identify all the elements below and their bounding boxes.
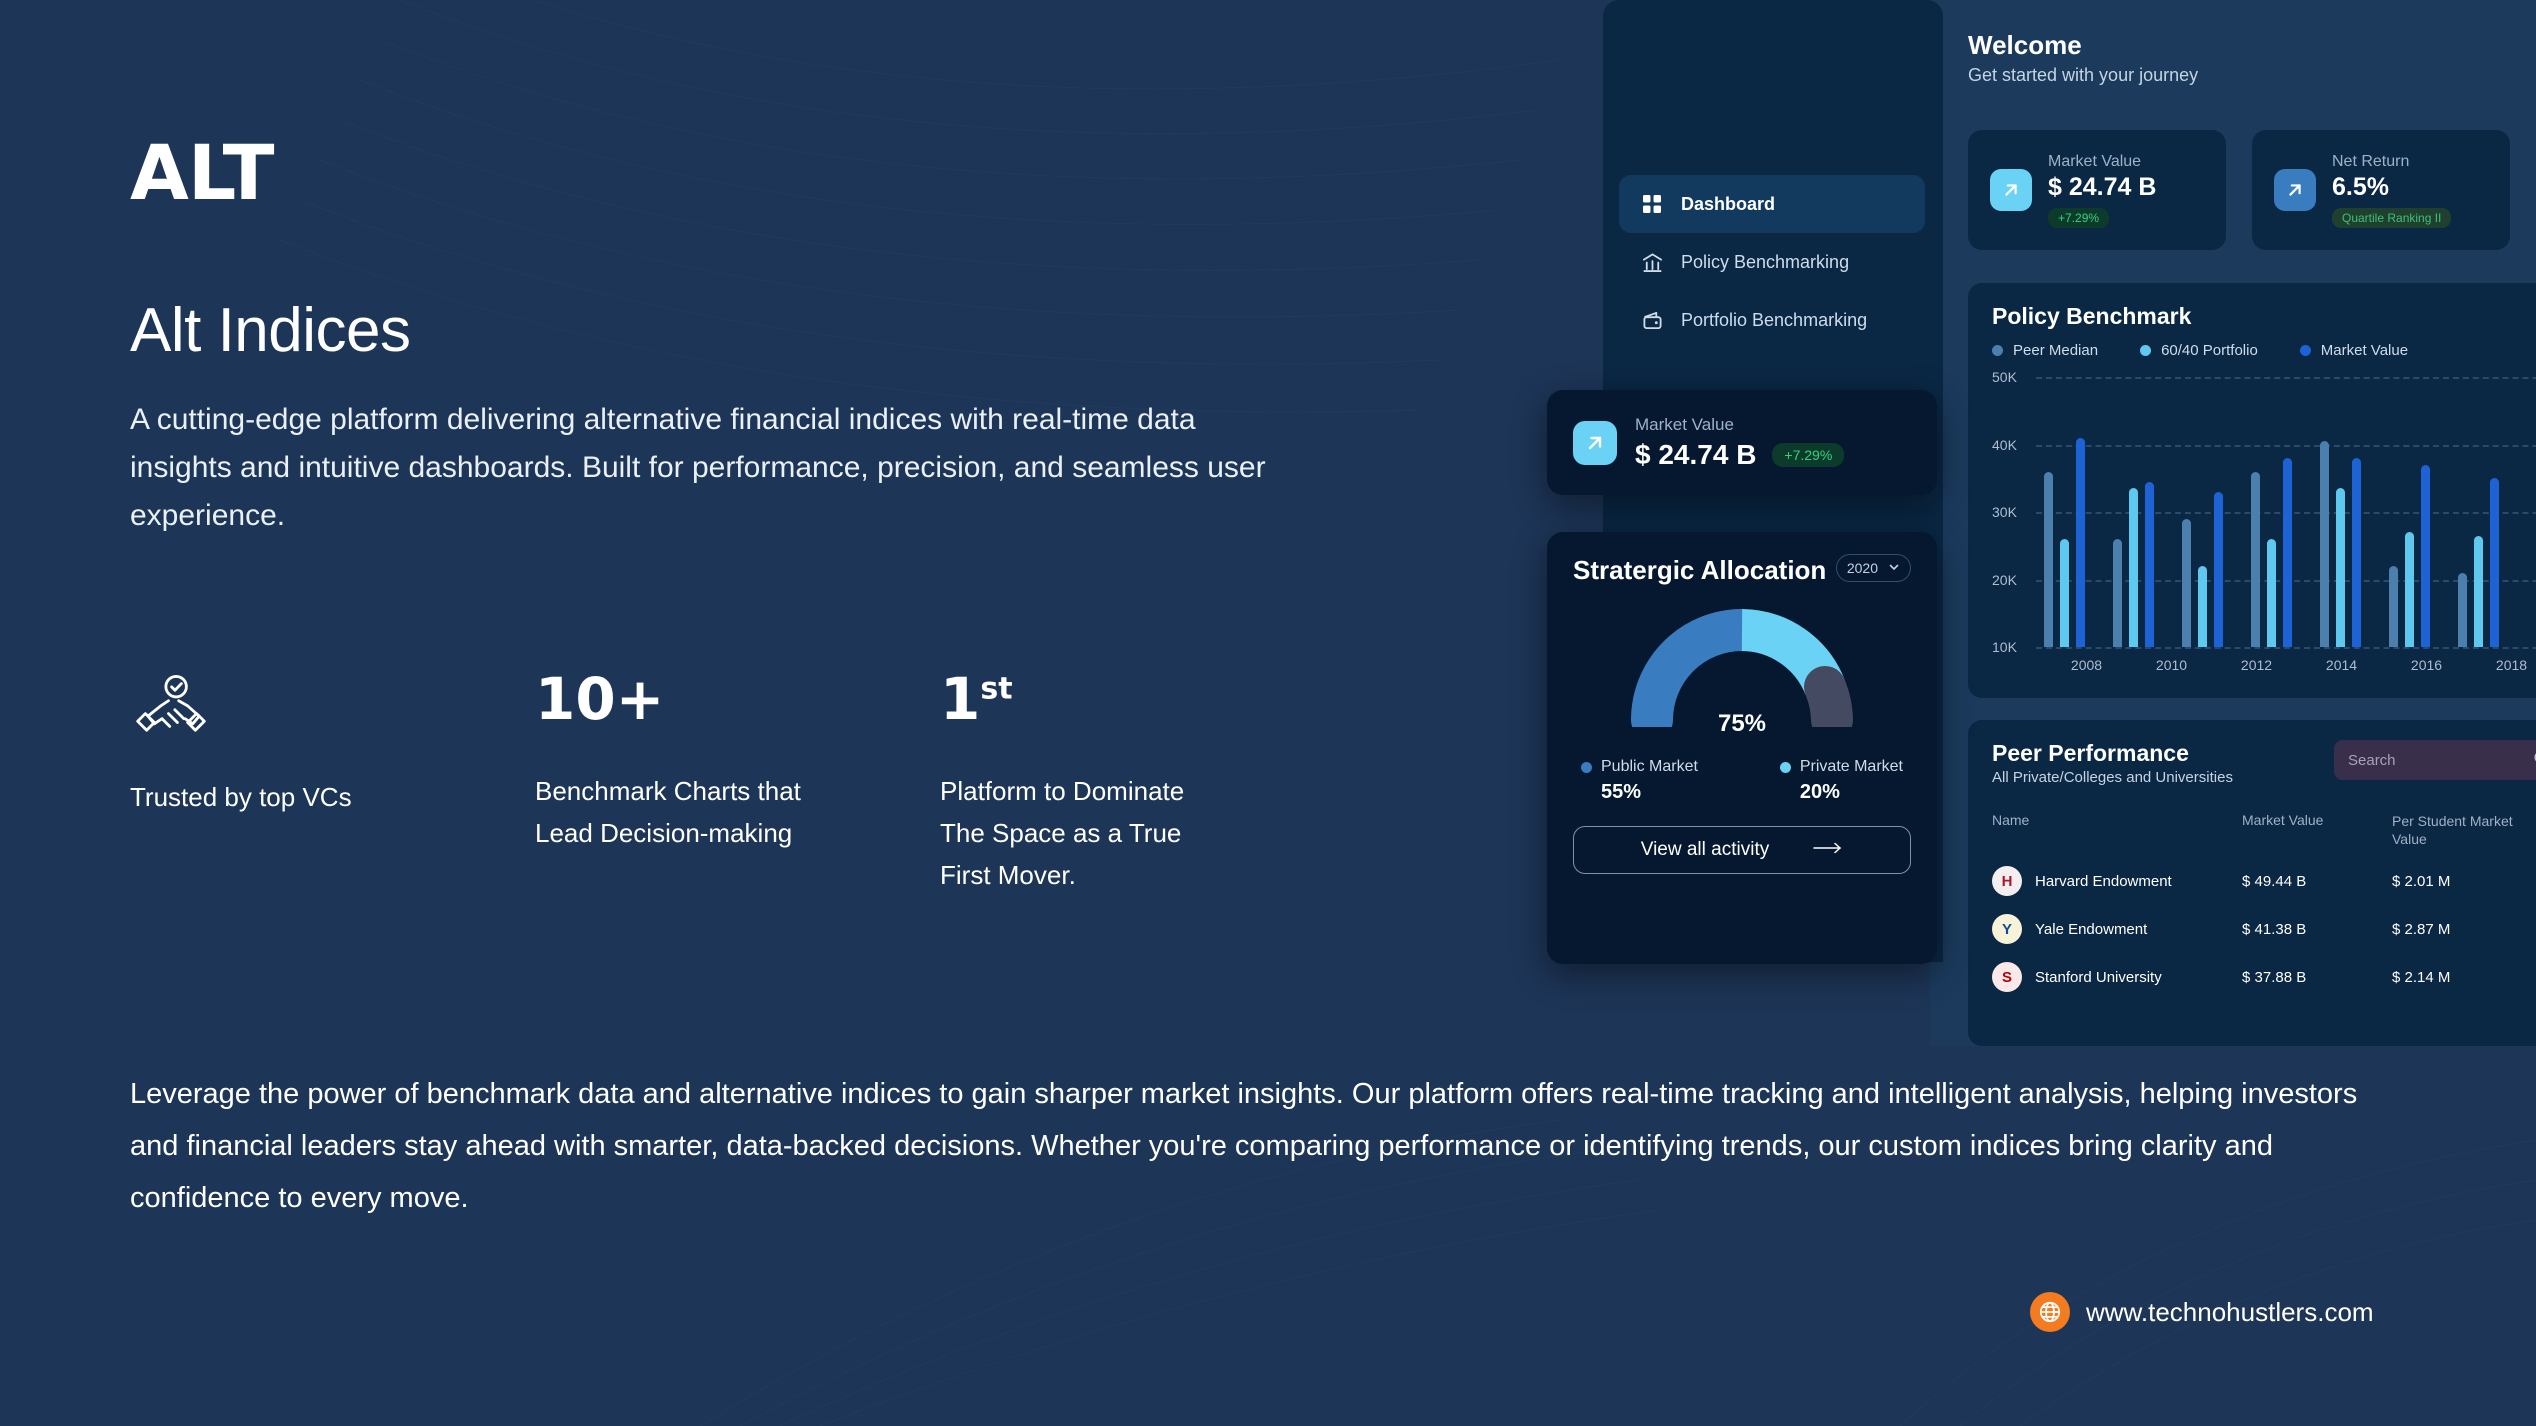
kpi-badge: Quartile Ranking II <box>2332 208 2451 228</box>
sidebar-item-dashboard[interactable]: Dashboard <box>1619 175 1925 233</box>
table-row[interactable]: YYale Endowment$ 41.38 B$ 2.87 M <box>1992 914 2536 944</box>
bar[interactable] <box>2352 458 2361 647</box>
avatar: H <box>1992 866 2022 896</box>
legend-value: 20% <box>1800 781 1903 804</box>
stat-item-trusted: Trusted by top VCs <box>130 670 400 896</box>
column-header-per-student: Per Student Market Value <box>2392 812 2532 848</box>
legend-item-public-market: Public Market 55% <box>1581 758 1698 804</box>
legend-label: Market Value <box>2321 342 2408 359</box>
cell-market-value: $ 49.44 B <box>2242 873 2392 890</box>
sidebar-item-policy-benchmarking[interactable]: Policy Benchmarking <box>1619 233 1925 291</box>
grid-icon <box>1641 193 1663 215</box>
kpi-badge: +7.29% <box>2048 208 2109 228</box>
table-row[interactable]: SStanford University$ 37.88 B$ 2.14 M <box>1992 962 2536 992</box>
bar[interactable] <box>2405 532 2414 647</box>
kpi-label: Net Return <box>2332 153 2451 171</box>
legend-dot <box>1581 762 1592 773</box>
peer-subtitle: All Private/Colleges and Universities <box>1992 769 2233 786</box>
avatar: S <box>1992 962 2022 992</box>
bar-group <box>2182 377 2223 647</box>
column-header-name: Name <box>1992 812 2242 848</box>
cell-market-value: $ 37.88 B <box>2242 969 2392 986</box>
bar[interactable] <box>2336 488 2345 647</box>
welcome-subtitle: Get started with your journey <box>1968 65 2198 86</box>
bar[interactable] <box>2214 492 2223 647</box>
bar[interactable] <box>2198 566 2207 647</box>
kpi-value: 6.5% <box>2332 173 2451 202</box>
page-title: Alt Indices <box>130 295 411 366</box>
bar-group <box>2389 377 2430 647</box>
kpi-label: Market Value <box>2048 153 2156 171</box>
cell-per-student: $ 2.01 M <box>2392 873 2532 890</box>
handshake-verified-icon <box>130 670 400 762</box>
allocation-legend: Public Market 55% Private Market 20% <box>1573 758 1911 804</box>
x-axis-tick-label: 2010 <box>2129 657 2214 673</box>
sidebar-item-label: Dashboard <box>1681 194 1775 215</box>
x-axis-tick-label: 2018 <box>2469 657 2536 673</box>
bar-group <box>2458 377 2499 647</box>
table-row[interactable]: HHarvard Endowment$ 49.44 B$ 2.01 M <box>1992 866 2536 896</box>
bar[interactable] <box>2251 472 2260 648</box>
view-all-activity-label: View all activity <box>1641 839 1769 861</box>
bar-group <box>2251 377 2292 647</box>
allocation-center-value: 75% <box>1573 710 1911 738</box>
allocation-title: Stratergic Allocation <box>1573 554 1826 586</box>
legend-item-6040-portfolio[interactable]: 60/40 Portfolio <box>2140 342 2258 359</box>
footer-url[interactable]: www.technohustlers.com <box>2086 1297 2374 1328</box>
stat-label: Trusted by top VCs <box>130 776 400 818</box>
bar[interactable] <box>2060 539 2069 647</box>
bar-group <box>2320 377 2361 647</box>
legend-label: Public Market <box>1601 758 1698 776</box>
globe-icon <box>2030 1292 2070 1332</box>
legend-label: Peer Median <box>2013 342 2098 359</box>
search-input[interactable]: Search <box>2334 740 2536 780</box>
welcome-title: Welcome <box>1968 30 2198 61</box>
legend-label: 60/40 Portfolio <box>2161 342 2258 359</box>
legend-dot <box>2140 345 2151 356</box>
floating-market-value-card: Market Value $ 24.74 B +7.29% <box>1547 390 1937 495</box>
cell-name: YYale Endowment <box>1992 914 2242 944</box>
kpi-value: $ 24.74 B <box>2048 173 2156 202</box>
stat-label: Benchmark Charts that Lead Decision-maki… <box>535 770 805 854</box>
x-axis-tick-label: 2012 <box>2214 657 2299 673</box>
y-axis-tick-label: 20K <box>1992 572 2017 588</box>
bar-group <box>2044 377 2085 647</box>
chart-title: Policy Benchmark <box>1992 303 2536 330</box>
y-axis-tick-label: 50K <box>1992 369 2017 385</box>
x-axis-tick-label: 2016 <box>2384 657 2469 673</box>
stat-item-first-mover: 1st Platform to Dominate The Space as a … <box>940 670 1210 896</box>
y-axis-tick-label: 40K <box>1992 437 2017 453</box>
kpi-card-market-value[interactable]: Market Value $ 24.74 B +7.29% <box>1968 130 2226 250</box>
policy-benchmark-chart-card: Policy Benchmark Peer Median 60/40 Portf… <box>1968 283 2536 698</box>
arrow-up-right-icon <box>2274 169 2316 211</box>
legend-dot <box>1992 345 2003 356</box>
bar[interactable] <box>2145 482 2154 647</box>
bar[interactable] <box>2076 438 2085 647</box>
table-body: HHarvard Endowment$ 49.44 B$ 2.01 MYYale… <box>1992 866 2536 992</box>
cell-name: SStanford University <box>1992 962 2242 992</box>
marketing-column: ALT Alt Indices A cutting-edge platform … <box>0 0 1560 1426</box>
allocation-year-select[interactable]: 2020 <box>1836 554 1911 582</box>
view-all-activity-button[interactable]: View all activity <box>1573 826 1911 874</box>
bar[interactable] <box>2113 539 2122 647</box>
bar-group <box>2113 377 2154 647</box>
stat-number-suffix: st <box>980 672 1012 707</box>
x-axis-tick-label: 2014 <box>2299 657 2384 673</box>
legend-item-private-market: Private Market 20% <box>1780 758 1903 804</box>
kpi-row: Market Value $ 24.74 B +7.29% Net Return… <box>1968 130 2510 250</box>
cell-per-student: $ 2.87 M <box>2392 921 2532 938</box>
bar[interactable] <box>2320 441 2329 647</box>
bar[interactable] <box>2283 458 2292 647</box>
legend-item-peer-median[interactable]: Peer Median <box>1992 342 2098 359</box>
stat-number: 10+ <box>535 670 805 728</box>
institution-name: Harvard Endowment <box>2035 873 2172 890</box>
sidebar-item-label: Policy Benchmarking <box>1681 252 1849 273</box>
legend-dot <box>1780 762 1791 773</box>
legend-value: 55% <box>1601 781 1698 804</box>
institution-name: Yale Endowment <box>2035 921 2147 938</box>
footer: www.technohustlers.com <box>2030 1292 2374 1332</box>
sidebar-item-label: Portfolio Benchmarking <box>1681 310 1867 331</box>
arrow-right-icon <box>1813 839 1843 861</box>
allocation-year-value: 2020 <box>1847 560 1878 576</box>
stat-label: Platform to Dominate The Space as a True… <box>940 770 1210 896</box>
chart-legend: Peer Median 60/40 Portfolio Market Value <box>1992 342 2536 359</box>
arrow-up-right-icon <box>1990 169 2032 211</box>
table-header-row: Name Market Value Per Student Market Val… <box>1992 812 2536 848</box>
stat-item-benchmark: 10+ Benchmark Charts that Lead Decision-… <box>535 670 805 896</box>
chart-bars <box>2044 377 2536 647</box>
allocation-gauge: 75% <box>1573 602 1911 742</box>
chart-x-axis-labels: 200820102012201420162018 <box>2044 657 2536 673</box>
gridline <box>2036 647 2536 649</box>
bar[interactable] <box>2421 465 2430 647</box>
bar[interactable] <box>2490 478 2499 647</box>
bar[interactable] <box>2044 472 2053 648</box>
market-value-change-badge: +7.29% <box>1772 443 1844 467</box>
bar[interactable] <box>2182 519 2191 647</box>
chart-plot-area: 10K20K30K40K50K 200820102012201420162018 <box>1992 377 2536 647</box>
market-value-label: Market Value <box>1635 415 1844 435</box>
bar[interactable] <box>2129 488 2138 647</box>
sidebar-nav: Dashboard Policy Benchmarking Portfolio … <box>1619 175 1925 349</box>
avatar: Y <box>1992 914 2022 944</box>
legend-item-market-value[interactable]: Market Value <box>2300 342 2408 359</box>
bar[interactable] <box>2474 536 2483 647</box>
peer-performance-card: Peer Performance All Private/Colleges an… <box>1968 720 2536 1046</box>
brand-logo: ALT <box>130 128 274 217</box>
y-axis-tick-label: 10K <box>1992 639 2017 655</box>
column-header-market-value: Market Value <box>2242 812 2392 848</box>
cell-name: HHarvard Endowment <box>1992 866 2242 896</box>
strategic-allocation-card: Stratergic Allocation 2020 75% Public Ma… <box>1547 532 1937 964</box>
y-axis-tick-label: 30K <box>1992 504 2017 520</box>
chevron-down-icon <box>1888 560 1900 576</box>
arrow-up-right-icon <box>1573 421 1617 465</box>
institution-name: Stanford University <box>2035 969 2162 986</box>
kpi-card-net-return[interactable]: Net Return 6.5% Quartile Ranking II <box>2252 130 2510 250</box>
wallet-icon <box>1641 309 1663 331</box>
bar[interactable] <box>2458 573 2467 647</box>
sidebar-item-portfolio-benchmarking[interactable]: Portfolio Benchmarking <box>1619 291 1925 349</box>
stat-number: 1st <box>940 670 1210 728</box>
cell-market-value: $ 41.38 B <box>2242 921 2392 938</box>
hero-description: A cutting-edge platform delivering alter… <box>130 396 1270 540</box>
stats-row: Trusted by top VCs 10+ Benchmark Charts … <box>130 670 1260 896</box>
legend-label: Private Market <box>1800 758 1903 776</box>
x-axis-tick-label: 2008 <box>2044 657 2129 673</box>
bar-chart-icon <box>1641 251 1663 273</box>
welcome-header: Welcome Get started with your journey <box>1968 30 2198 86</box>
market-value-amount: $ 24.74 B <box>1635 439 1756 471</box>
bar[interactable] <box>2389 566 2398 647</box>
peer-title: Peer Performance <box>1992 740 2233 767</box>
legend-dot <box>2300 345 2311 356</box>
cell-per-student: $ 2.14 M <box>2392 969 2532 986</box>
bar[interactable] <box>2267 539 2276 647</box>
search-placeholder: Search <box>2348 752 2396 769</box>
